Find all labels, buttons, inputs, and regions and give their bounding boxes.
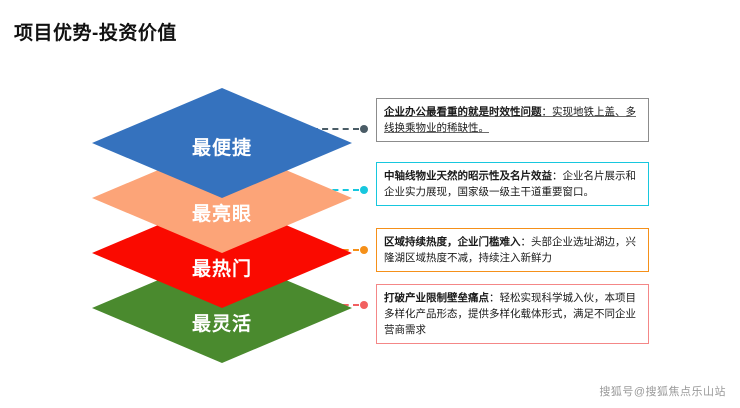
callout-lead-4: 打破产业限制壁垒痛点 (384, 292, 489, 304)
connector-dot-2 (360, 186, 368, 194)
callout-separator-4: ： (489, 292, 500, 304)
callout-body-2: 中轴线物业天然的昭示性及名片效益：企业名片展示和企业实力展现，国家级一级主干道重… (384, 170, 636, 198)
connector-dot-1 (360, 125, 368, 133)
callout-lead-2: 中轴线物业天然的昭示性及名片效益 (384, 170, 552, 182)
callout-box-2: 中轴线物业天然的昭示性及名片效益：企业名片展示和企业实力展现，国家级一级主干道重… (376, 162, 649, 206)
diamond-stack: 最灵活 最热门 最亮眼 最便捷 (92, 88, 352, 343)
watermark-text: 搜狐号@搜狐焦点乐山站 (599, 383, 726, 399)
diamond-shape-1 (92, 88, 352, 198)
callout-box-3: 区域持续热度，企业门槛难入：头部企业选址湖边，兴隆湖区域热度不减，持续注入新鲜力 (376, 228, 649, 272)
callout-body-3: 区域持续热度，企业门槛难入：头部企业选址湖边，兴隆湖区域热度不减，持续注入新鲜力 (384, 236, 636, 264)
callout-box-1: 企业办公最看重的就是时效性问题：实现地铁上盖、多线换乘物业的稀缺性。 (376, 98, 649, 142)
diamond-item-1[interactable]: 最便捷 (92, 88, 352, 198)
page-title: 项目优势-投资价值 (14, 18, 177, 45)
callout-separator-3: ： (521, 236, 532, 248)
callout-lead-3: 区域持续热度，企业门槛难入 (384, 236, 521, 248)
slide-canvas: 项目优势-投资价值 最灵活 最热门 最亮眼 最便捷 (0, 0, 740, 408)
callout-separator-2: ： (552, 170, 563, 182)
callout-body-4: 打破产业限制壁垒痛点：轻松实现科学城入伙，本项目多样化产品形态，提供多样化载体形… (384, 292, 636, 336)
callout-lead-1: 企业办公最看重的就是时效性问题 (384, 106, 542, 118)
callout-body-1: 企业办公最看重的就是时效性问题：实现地铁上盖、多线换乘物业的稀缺性。 (384, 106, 636, 134)
connector-dot-4 (360, 301, 368, 309)
callout-box-4: 打破产业限制壁垒痛点：轻松实现科学城入伙，本项目多样化产品形态，提供多样化载体形… (376, 284, 649, 344)
callout-separator-1: ： (542, 106, 553, 118)
connector-dot-3 (360, 246, 368, 254)
